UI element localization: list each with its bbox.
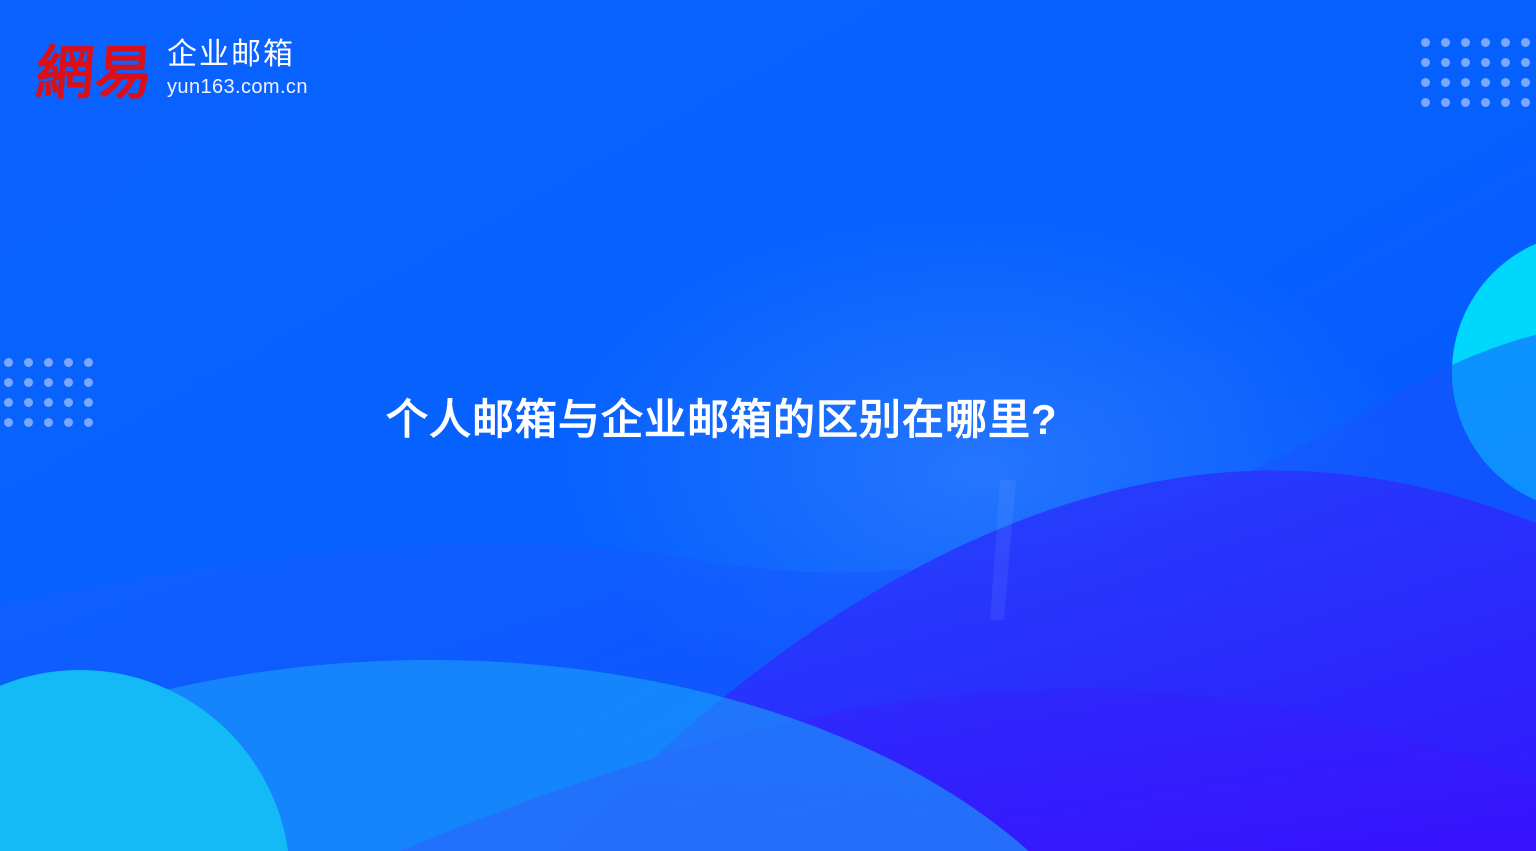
dot — [1441, 38, 1450, 47]
dot-grid-left — [4, 358, 93, 427]
dot — [1501, 98, 1510, 107]
dot — [4, 358, 13, 367]
dot — [1481, 58, 1490, 67]
dot — [84, 398, 93, 407]
dot — [1461, 58, 1470, 67]
dot — [1421, 58, 1430, 67]
dot — [44, 418, 53, 427]
dot — [1501, 58, 1510, 67]
dot — [1481, 98, 1490, 107]
brand-logo: 網易 企业邮箱 yun163.com.cn — [36, 38, 308, 102]
dot — [1461, 98, 1470, 107]
brand-logo-text: 企业邮箱 yun163.com.cn — [167, 38, 308, 102]
dot — [44, 398, 53, 407]
brand-domain: yun163.com.cn — [167, 75, 308, 99]
wave-mid — [560, 470, 1536, 851]
wave-bottom-left-ellipse — [0, 660, 1150, 851]
dot — [84, 418, 93, 427]
background-glow — [550, 210, 1410, 730]
dot — [1521, 58, 1530, 67]
dot — [1501, 78, 1510, 87]
dot — [1521, 38, 1530, 47]
wave-deep — [400, 689, 1536, 851]
dot — [1441, 78, 1450, 87]
dot — [1441, 98, 1450, 107]
dot — [44, 378, 53, 387]
dot — [24, 398, 33, 407]
dot — [24, 358, 33, 367]
dot — [24, 378, 33, 387]
dot — [84, 358, 93, 367]
dot — [64, 378, 73, 387]
brand-product-name: 企业邮箱 — [167, 38, 295, 72]
dot — [1481, 38, 1490, 47]
cyan-circle-right — [1452, 232, 1536, 512]
dot — [1421, 98, 1430, 107]
dot — [4, 418, 13, 427]
dot — [1421, 78, 1430, 87]
light-streak — [990, 480, 1016, 620]
dot — [1521, 78, 1530, 87]
dot — [4, 378, 13, 387]
dot — [1421, 38, 1430, 47]
slide-headline: 个人邮箱与企业邮箱的区别在哪里? — [386, 396, 1058, 445]
dot — [44, 358, 53, 367]
dot — [1461, 78, 1470, 87]
dot — [64, 358, 73, 367]
dot — [24, 418, 33, 427]
dot — [4, 398, 13, 407]
dot-grid-top-right — [1421, 38, 1530, 107]
cyan-circle-bottom-left — [0, 670, 290, 851]
dot — [1461, 38, 1470, 47]
dot — [84, 378, 93, 387]
slide-canvas: 網易 企业邮箱 yun163.com.cn 个人邮箱与企业邮箱的区别在哪里? — [0, 0, 1536, 851]
dot — [1501, 38, 1510, 47]
dot — [64, 418, 73, 427]
dot — [64, 398, 73, 407]
netease-wordmark: 網易 — [34, 45, 156, 102]
dot — [1521, 98, 1530, 107]
dot — [1441, 58, 1450, 67]
dot — [1481, 78, 1490, 87]
